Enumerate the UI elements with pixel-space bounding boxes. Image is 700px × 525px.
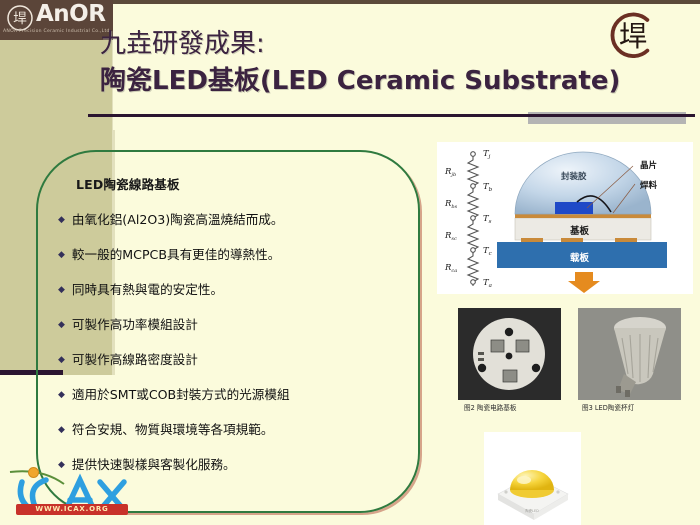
photo-caption: 图2 陶瓷电路基板 xyxy=(464,402,516,412)
logo-tagline: ANOR Precision Ceramic Industrial Co.,Lt… xyxy=(3,29,113,34)
label-substrate: 基板 xyxy=(569,225,590,237)
diamond-bullet-icon: ◆ xyxy=(58,212,65,228)
ceramic-circuit-board-photo xyxy=(458,308,561,400)
list-item: ◆ 符合安規、物質與環境等各項規範。 xyxy=(58,422,402,438)
title-divider xyxy=(88,114,695,117)
watermark-dot-icon xyxy=(28,467,39,478)
list-item: ◆ 可製作高線路密度設計 xyxy=(58,352,402,368)
list-item: ◆ 適用於SMT或COB封裝方式的光源模組 xyxy=(58,387,402,403)
content-panel: LED陶瓷線路基板 ◆ 由氧化鋁(Al2O3)陶瓷高溫燒結而成。 ◆ 較一般的M… xyxy=(36,150,420,513)
bullet-text: 可製作高功率模組設計 xyxy=(72,317,402,333)
diamond-bullet-icon: ◆ xyxy=(58,352,65,368)
photo-figure-group: 图2 陶瓷电路基板 图3 LED陶瓷杯灯 xyxy=(458,308,688,420)
panel-heading: LED陶瓷線路基板 xyxy=(76,174,402,193)
label-solder: 焊料 xyxy=(640,180,658,191)
presentation-slide: 垾 AnOR ANOR Precision Ceramic Industrial… xyxy=(0,0,700,525)
feature-bullet-list: ◆ 由氧化鋁(Al2O3)陶瓷高溫燒結而成。 ◆ 較一般的MCPCB具有更佳的導… xyxy=(58,212,402,473)
icax-watermark: WWW.ICAX.ORG xyxy=(2,466,134,524)
led-package-figure: 陶瓷LED xyxy=(484,432,581,525)
diamond-bullet-icon: ◆ xyxy=(58,317,65,333)
icax-logo-icon xyxy=(2,466,134,524)
diamond-bullet-icon: ◆ xyxy=(58,422,65,438)
diamond-bullet-icon: ◆ xyxy=(58,282,65,298)
watermark-url: WWW.ICAX.ORG xyxy=(16,504,128,515)
thermal-figure-svg: Tj Tb Ts Tc Ta Rjb Rbs Rsc Rca xyxy=(437,142,693,294)
led-ceramic-cup-lamp-photo xyxy=(578,308,681,400)
company-logo: 垾 AnOR ANOR Precision Ceramic Industrial… xyxy=(0,0,113,40)
logo-wordmark: AnOR xyxy=(36,1,105,28)
label-encapsulant: 封装胶 xyxy=(561,171,587,182)
diamond-bullet-icon: ◆ xyxy=(58,387,65,403)
title-line-2: 陶瓷LED基板(LED Ceramic Substrate) xyxy=(100,63,695,100)
bullet-text: 可製作高線路密度設計 xyxy=(72,352,402,368)
bullet-text: 由氧化鋁(Al2O3)陶瓷高溫燒結而成。 xyxy=(72,212,402,228)
list-item: ◆ 可製作高功率模組設計 xyxy=(58,317,402,333)
watermark-url-banner: WWW.ICAX.ORG xyxy=(16,504,128,515)
thermal-resistance-figure: Tj Tb Ts Tc Ta Rjb Rbs Rsc Rca xyxy=(437,142,693,294)
photo-caption: 图3 LED陶瓷杯灯 xyxy=(582,402,634,412)
page-title: 九垚研發成果: 陶瓷LED基板(LED Ceramic Substrate) xyxy=(100,26,695,100)
label-carrier: 载板 xyxy=(570,252,590,264)
title-line-1: 九垚研發成果: xyxy=(100,26,695,63)
led-caption: 陶瓷LED xyxy=(525,508,539,513)
diamond-bullet-icon: ◆ xyxy=(58,247,65,263)
bullet-text: 符合安規、物質與環境等各項規範。 xyxy=(72,422,402,438)
bullet-text: 適用於SMT或COB封裝方式的光源模組 xyxy=(72,387,402,403)
list-item: ◆ 較一般的MCPCB具有更佳的導熱性。 xyxy=(58,247,402,263)
bullet-text: 同時具有熱與電的安定性。 xyxy=(72,282,402,298)
list-item: ◆ 由氧化鋁(Al2O3)陶瓷高溫燒結而成。 xyxy=(58,212,402,228)
list-item: ◆ 同時具有熱與電的安定性。 xyxy=(58,282,402,298)
svg-text:垾: 垾 xyxy=(13,11,27,27)
label-chip: 晶片 xyxy=(640,160,657,171)
bullet-text: 較一般的MCPCB具有更佳的導熱性。 xyxy=(72,247,402,263)
